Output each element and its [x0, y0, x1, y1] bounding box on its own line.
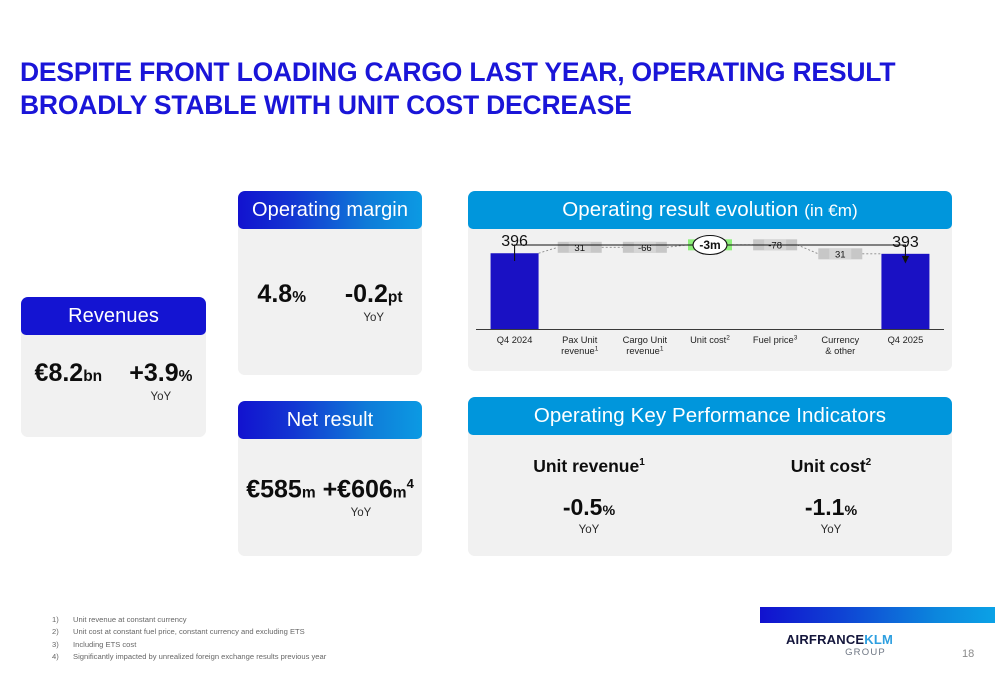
footnotes: 1)Unit revenue at constant currency2)Uni… [52, 614, 326, 663]
chart-category-label: Pax Unit [562, 335, 598, 345]
chart-category-footnote: 1 [595, 346, 599, 353]
chart-category-label: & other [825, 346, 855, 356]
operating-kpi-item-period: YoY [468, 524, 710, 536]
chart-category-label: Unit cost2 [690, 335, 730, 346]
operating-kpi-card: Operating Key Performance Indicators Uni… [468, 397, 952, 556]
page-number: 18 [962, 648, 974, 660]
operating-margin-change-unit: pt [388, 289, 403, 306]
chart-category-footnote: 2 [726, 335, 730, 342]
operating-margin-change: -0.2pt [345, 282, 403, 307]
revenues-change-period: YoY [129, 391, 192, 403]
operating-kpi-card-header: Operating Key Performance Indicators [468, 397, 952, 435]
revenues-card-header: Revenues [21, 297, 206, 335]
footnote-text: Including ETS cost [73, 639, 136, 651]
operating-margin-value-cell: 4.8% [257, 282, 306, 307]
net-result-change-unit: m [393, 484, 407, 501]
operating-margin-value: 4.8% [257, 282, 306, 307]
operating-kpi-item-value: -0.5% [468, 496, 710, 519]
revenues-value-unit: bn [83, 368, 102, 385]
net-result-card-header: Net result [238, 401, 422, 439]
waterfall-bar-group: -66 [623, 242, 667, 254]
net-result-card-body: €585m +€606m4 YoY [238, 439, 422, 556]
operating-margin-value-number: 4.8 [257, 280, 292, 308]
chart-category-label: Q4 2024 [497, 335, 533, 345]
operating-kpi-item-period: YoY [710, 524, 952, 536]
waterfall-delta-label: 31 [835, 249, 846, 260]
revenues-change-cell: +3.9% YoY [129, 361, 192, 403]
footnote-row: 3)Including ETS cost [52, 639, 326, 651]
operating-kpi-item-value-unit: % [602, 503, 615, 519]
operating-margin-change-period: YoY [345, 312, 403, 324]
operating-result-chart-card: Operating result evolution (in €m) 39631… [468, 191, 952, 371]
operating-result-chart-body: 39631-6679-7831393Q4 2024Pax Unitrevenue… [468, 229, 952, 371]
operating-kpi-item-value: -1.1% [710, 496, 952, 519]
waterfall-delta-label: -78 [768, 240, 782, 251]
airfrance-klm-logo: AIRFRANCEKLM GROUP [760, 607, 995, 658]
net-result-value-unit: m [302, 484, 316, 501]
chart-title: Operating result evolution [562, 198, 798, 221]
operating-kpi-item-value-unit: % [844, 503, 857, 519]
operating-result-chart-header: Operating result evolution (in €m) [468, 191, 952, 229]
net-result-value-number: €585 [246, 475, 302, 503]
chart-category-label: Q4 2025 [888, 335, 924, 345]
footnote-number: 1) [52, 614, 73, 626]
net-result-change-footnote: 4 [407, 476, 414, 491]
chart-category-label: revenue1 [626, 346, 664, 357]
net-result-values: €585m +€606m4 [238, 477, 422, 502]
operating-kpi-item-title: Unit revenue1 [468, 456, 710, 477]
chart-subtitle: (in €m) [804, 201, 858, 220]
operating-kpi-item: Unit cost2-1.1%YoY [710, 456, 952, 536]
annotation-label: -3m [699, 238, 720, 252]
operating-margin-change-number: -0.2 [345, 280, 388, 308]
operating-kpi-item: Unit revenue1-0.5%YoY [468, 456, 710, 536]
waterfall-total-bar [491, 253, 539, 329]
net-result-card: Net result €585m +€606m4 YoY [238, 401, 422, 556]
waterfall-bar-group: 31 [818, 248, 862, 260]
operating-margin-card-body: 4.8% -0.2pt YoY [238, 229, 422, 375]
waterfall-bar-group: 31 [558, 242, 602, 254]
logo-gradient-bar [760, 607, 995, 623]
waterfall-connector [797, 245, 818, 254]
operating-kpi-item-value-number: -0.5 [563, 494, 603, 520]
waterfall-chart: 39631-6679-7831393Q4 2024Pax Unitrevenue… [468, 229, 952, 371]
footnote-number: 2) [52, 626, 73, 638]
revenues-card: Revenues €8.2bn +3.9% YoY [21, 297, 206, 437]
chart-category-footnote: 3 [794, 335, 798, 342]
waterfall-total-bar [881, 254, 929, 329]
chart-category-label: revenue1 [561, 346, 599, 357]
logo-group: GROUP [760, 648, 919, 658]
revenues-value-cell: €8.2bn [35, 361, 103, 386]
operating-kpi-item-footnote: 2 [866, 457, 872, 468]
revenues-value-number: €8.2 [35, 359, 84, 387]
chart-category-label: Cargo Unit [623, 335, 668, 345]
operating-margin-change-cell: -0.2pt YoY [345, 282, 403, 324]
footnote-text: Significantly impacted by unrealized for… [73, 651, 326, 663]
chart-category-label: Currency [821, 335, 859, 345]
operating-kpi-item-footnote: 1 [639, 457, 645, 468]
revenues-change-unit: % [179, 368, 193, 385]
footnote-row: 4)Significantly impacted by unrealized f… [52, 651, 326, 663]
net-result-change-number: +€606 [323, 475, 393, 503]
page-title: DESPITE FRONT LOADING CARGO LAST YEAR, O… [20, 56, 980, 123]
revenues-value: €8.2bn [35, 361, 103, 386]
chart-category-footnote: 1 [660, 346, 664, 353]
footnote-row: 1)Unit revenue at constant currency [52, 614, 326, 626]
footnote-text: Unit revenue at constant currency [73, 614, 187, 626]
revenues-change: +3.9% [129, 361, 192, 386]
revenues-card-body: €8.2bn +3.9% YoY [21, 335, 206, 437]
logo-airfrance: AIRFRANCE [786, 632, 864, 647]
logo-klm: KLM [864, 632, 893, 647]
operating-kpi-item-title: Unit cost2 [710, 456, 952, 477]
operating-margin-card-header: Operating margin [238, 191, 422, 229]
footnote-number: 4) [52, 651, 73, 663]
operating-margin-card: Operating margin 4.8% -0.2pt YoY [238, 191, 422, 375]
operating-kpi-card-body: Unit revenue1-0.5%YoYUnit cost2-1.1%YoY [468, 435, 952, 556]
logo-wordmark: AIRFRANCEKLM [760, 633, 919, 647]
operating-kpi-grid: Unit revenue1-0.5%YoYUnit cost2-1.1%YoY [468, 435, 952, 536]
net-result-change-period: YoY [238, 507, 422, 519]
waterfall-connector [539, 247, 558, 253]
footnote-number: 3) [52, 639, 73, 651]
logo-text: AIRFRANCEKLM GROUP [760, 633, 995, 658]
revenues-change-number: +3.9 [129, 359, 178, 387]
chart-category-label: Fuel price3 [753, 335, 798, 346]
operating-kpi-item-value-number: -1.1 [805, 494, 845, 520]
footnote-text: Unit cost at constant fuel price, consta… [73, 626, 305, 638]
footnote-row: 2)Unit cost at constant fuel price, cons… [52, 626, 326, 638]
operating-margin-value-unit: % [292, 289, 306, 306]
